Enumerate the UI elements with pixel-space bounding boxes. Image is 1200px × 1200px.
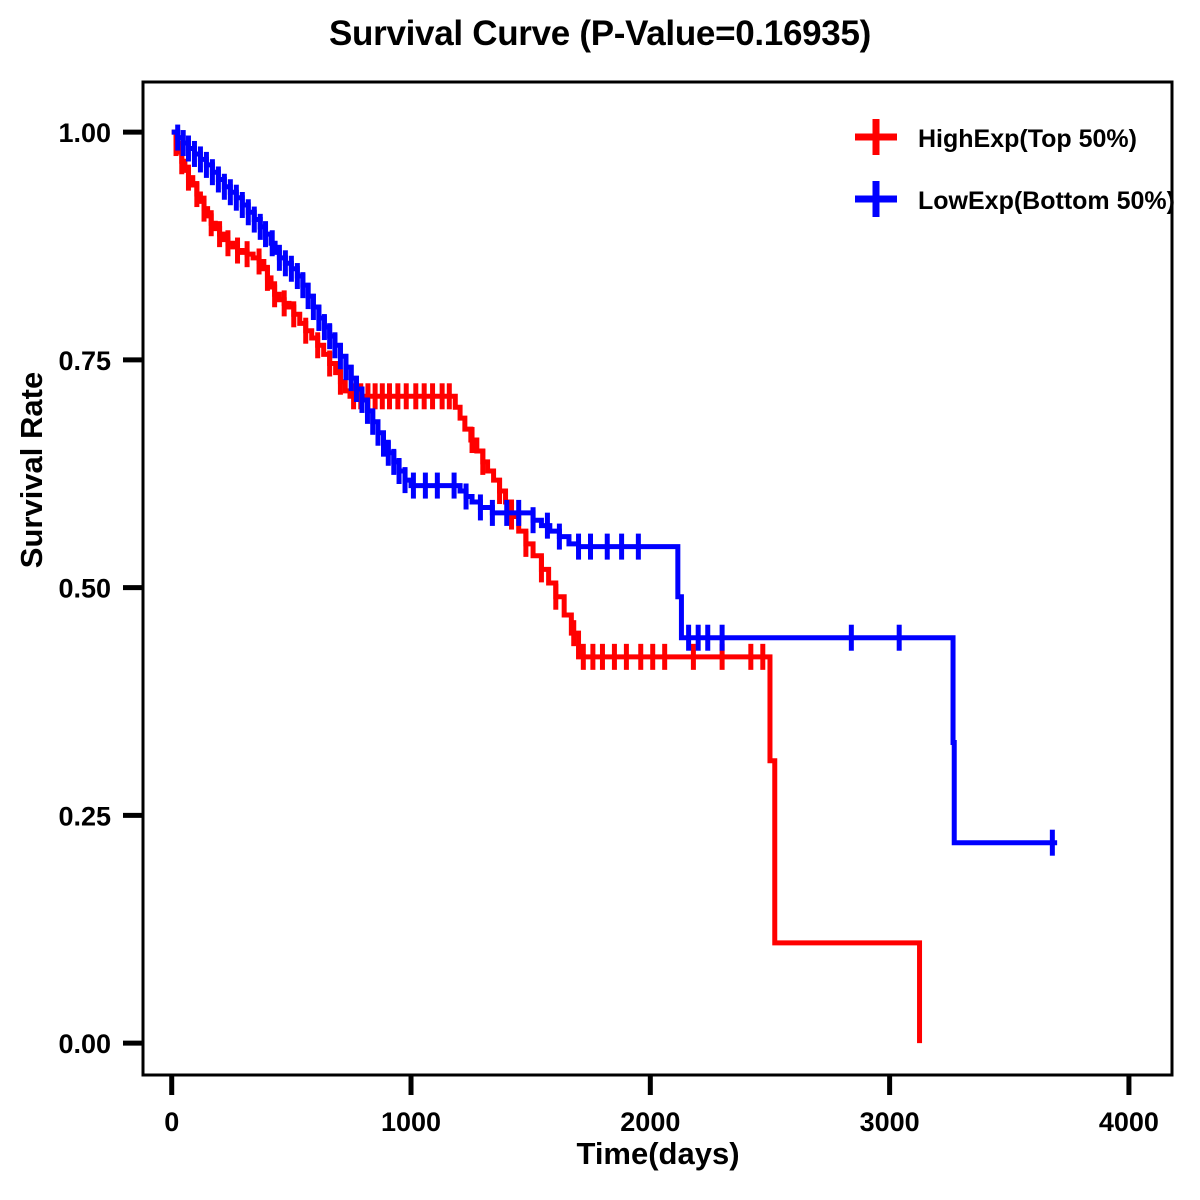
y-tick-label: 0.75: [58, 346, 111, 376]
plot-canvas: 01000200030004000 0.000.250.500.751.00 H…: [0, 0, 1200, 1200]
y-tick-label: 0.00: [58, 1029, 111, 1059]
x-tick-label: 1000: [381, 1107, 441, 1137]
plot-frame: [143, 82, 1172, 1075]
x-axis-ticks: 01000200030004000: [164, 1075, 1159, 1137]
y-axis-ticks: 0.000.250.500.751.00: [58, 118, 143, 1059]
x-tick-label: 4000: [1099, 1107, 1159, 1137]
y-tick-label: 1.00: [58, 118, 111, 148]
legend-label: LowExp(Bottom 50%): [918, 187, 1175, 215]
survival-curve-figure: Survival Curve (P-Value=0.16935) Surviva…: [0, 0, 1200, 1200]
x-tick-label: 3000: [860, 1107, 920, 1137]
x-tick-label: 2000: [620, 1107, 680, 1137]
y-tick-label: 0.25: [58, 801, 111, 831]
legend-label: HighExp(Top 50%): [918, 125, 1137, 153]
x-tick-label: 0: [164, 1107, 179, 1137]
y-tick-label: 0.50: [58, 574, 111, 604]
